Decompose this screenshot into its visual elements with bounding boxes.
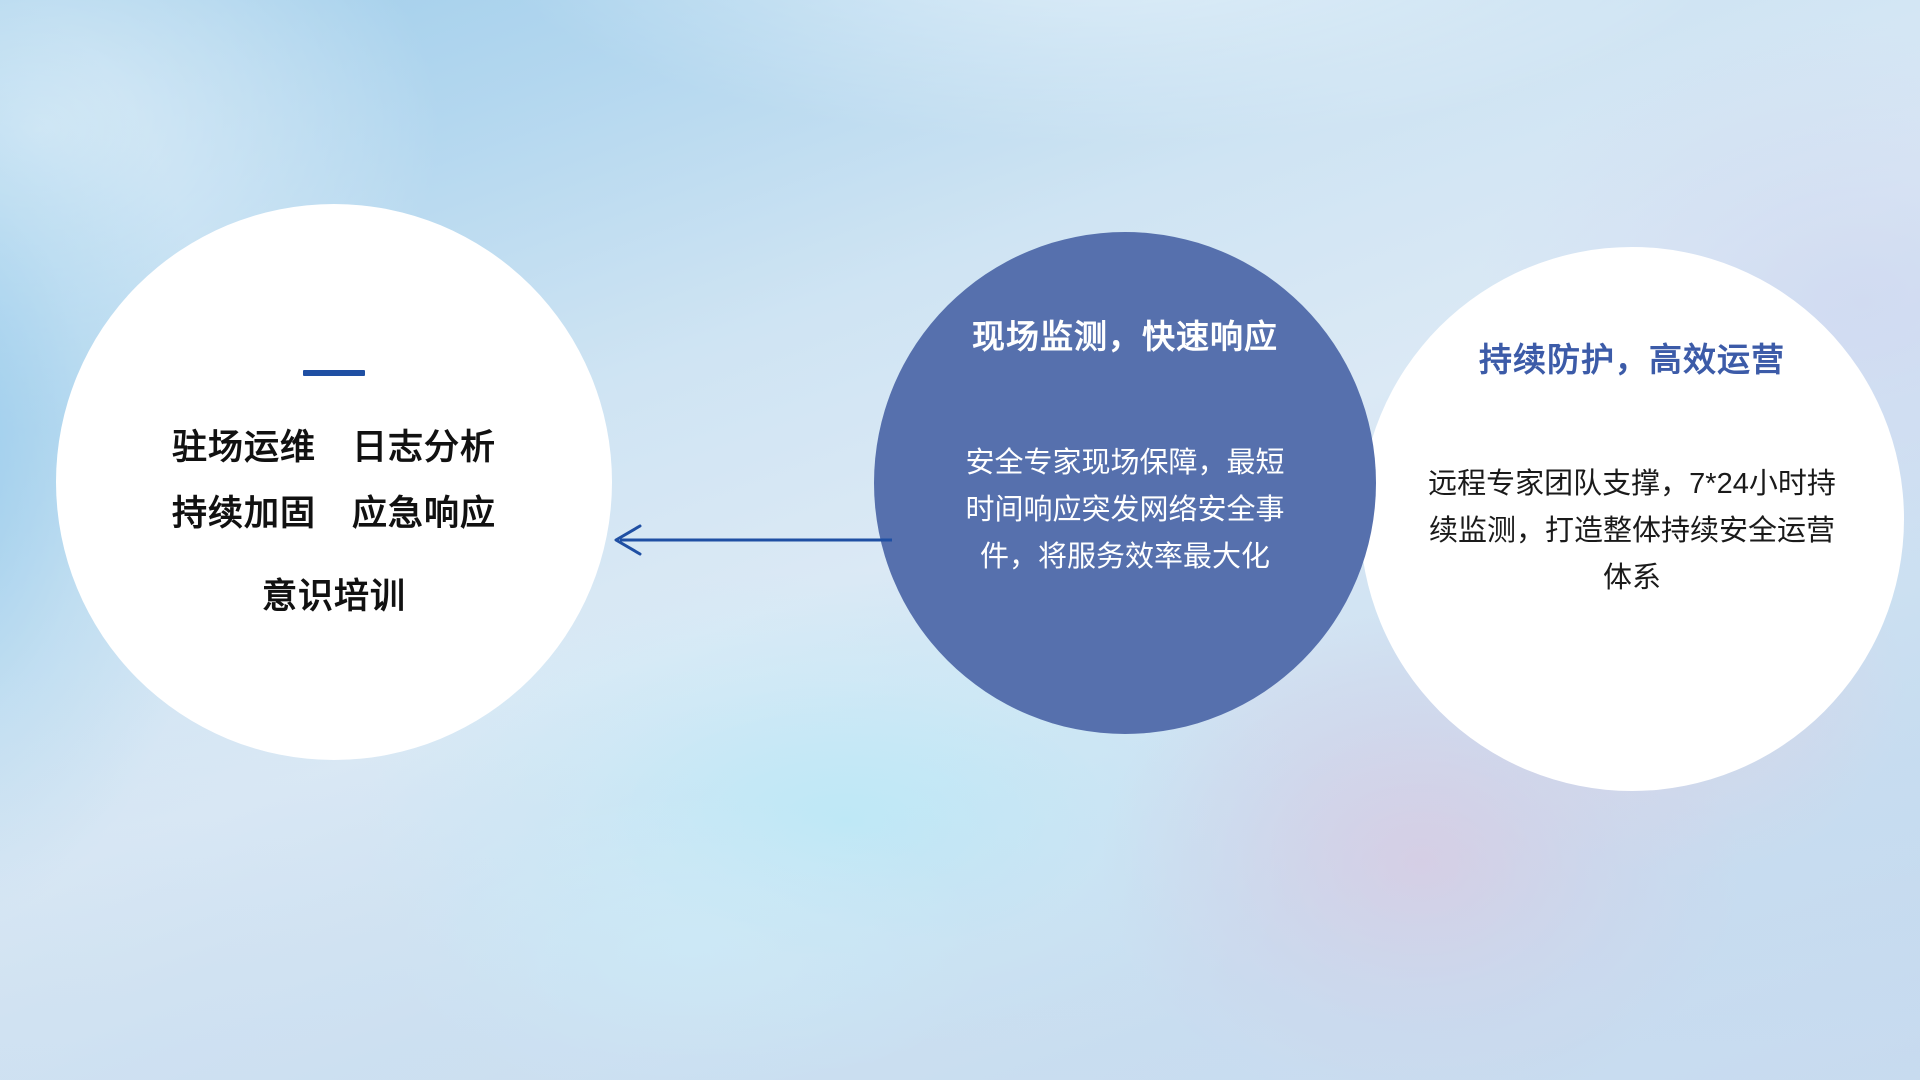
remote-body: 远程专家团队支撑，7*24小时持续监测，打造整体持续安全运营体系 (1422, 461, 1842, 602)
onsite-monitoring-circle: 现场监测，快速响应 安全专家现场保障，最短时间响应突发网络安全事件，将服务效率最… (874, 232, 1376, 734)
skills-list: 驻场运维 日志分析 持续加固 应急响应 意识培训 (172, 428, 496, 617)
skill-tag-continuous-hardening: 持续加固 (172, 494, 316, 534)
onsite-body: 安全专家现场保障，最短时间响应突发网络安全事件，将服务效率最大化 (960, 440, 1290, 581)
skill-tag-emergency-response: 应急响应 (352, 494, 496, 534)
remote-operations-circle: 持续防护，高效运营 远程专家团队支撑，7*24小时持续监测，打造整体持续安全运营… (1360, 247, 1904, 791)
slide-canvas: 驻场运维 日志分析 持续加固 应急响应 意识培训 现场监测，快速响应 安全专家现… (0, 0, 1920, 1080)
onsite-title: 现场监测，快速响应 (972, 310, 1278, 358)
skills-row: 意识培训 (262, 577, 406, 617)
skills-circle: 驻场运维 日志分析 持续加固 应急响应 意识培训 (56, 204, 612, 760)
skill-tag-onsite-ops: 驻场运维 (172, 428, 316, 468)
skills-row: 持续加固 应急响应 (172, 494, 496, 534)
flow-arrow-left-icon (604, 520, 894, 560)
skill-tag-log-analysis: 日志分析 (352, 428, 496, 468)
accent-dash-divider (303, 370, 365, 376)
skills-row: 驻场运维 日志分析 (172, 428, 496, 468)
remote-title: 持续防护，高效运营 (1479, 333, 1785, 381)
skill-tag-awareness-training: 意识培训 (262, 577, 406, 617)
